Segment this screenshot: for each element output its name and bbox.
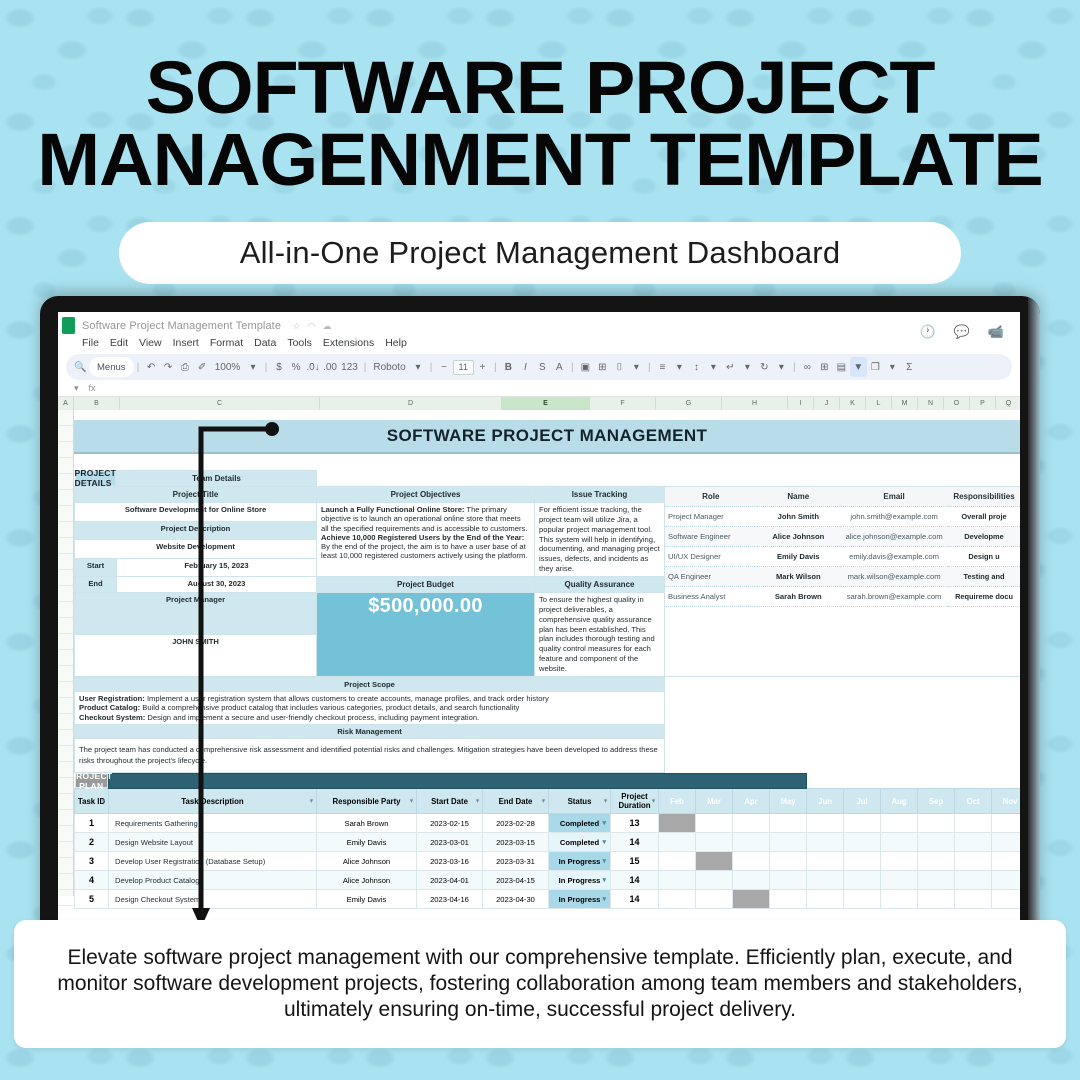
col-label: End Date — [499, 797, 533, 806]
chevron-down-icon[interactable]: ▾ — [602, 857, 606, 865]
gantt-empty-cell — [733, 852, 770, 871]
col-label: Project Duration — [618, 792, 650, 810]
start-date-cell: 2023-04-01 — [417, 871, 483, 890]
gantt-empty-cell — [844, 833, 881, 852]
row-header[interactable] — [58, 554, 73, 570]
column-header-l[interactable]: L — [866, 397, 892, 410]
team-email: mark.wilson@example.com — [840, 567, 948, 587]
row-header[interactable] — [58, 682, 73, 698]
comment-icon[interactable]: 💬 — [954, 324, 970, 340]
row-header[interactable] — [58, 762, 73, 778]
end-date-cell: 2023-04-15 — [483, 871, 549, 890]
italic-icon[interactable]: I — [517, 357, 534, 377]
row-header[interactable] — [58, 874, 73, 890]
text-wrap-icon[interactable]: ↵ — [722, 357, 739, 377]
gantt-empty-cell — [918, 852, 955, 871]
row-header[interactable] — [58, 698, 73, 714]
team-table: Role Name Email Responsibilities Project… — [665, 487, 1020, 607]
gantt-empty-cell — [807, 833, 844, 852]
scope-2-text: Build a comprehensive product catalog th… — [140, 703, 519, 712]
filter-icon[interactable]: ▾ — [476, 798, 479, 805]
team-responsibility: Developme — [948, 527, 1020, 547]
gantt-empty-cell — [918, 890, 955, 909]
sheets-logo-icon — [62, 317, 75, 334]
issue-tracking-header: Issue Tracking — [535, 487, 665, 503]
col-task-description[interactable]: Task Description▾ — [109, 789, 317, 814]
row-header[interactable] — [58, 410, 73, 426]
start-date-cell: 2023-02-15 — [417, 814, 483, 833]
menu-format[interactable]: Format — [210, 337, 243, 349]
gantt-empty-cell — [881, 852, 918, 871]
filter-icon[interactable]: ▾ — [604, 798, 607, 805]
print-icon[interactable]: ⎙ — [177, 357, 194, 377]
objective-1-label: Launch a Fully Functional Online Store: — [321, 505, 464, 514]
more-formats-icon[interactable]: 123 — [339, 357, 361, 377]
team-role: UI/UX Designer — [665, 547, 757, 567]
end-date-value: August 30, 2023 — [117, 577, 317, 593]
functions-chevron-down-icon[interactable]: ▾ — [884, 357, 901, 377]
gantt-bar-cell — [733, 890, 770, 909]
row-header[interactable] — [58, 634, 73, 650]
row-header[interactable] — [58, 730, 73, 746]
project-duration-cell: 14 — [611, 890, 659, 909]
task-description-cell: Design Checkout System — [109, 890, 317, 909]
merge-cells-icon[interactable]: ⌷ — [611, 357, 628, 377]
menu-tools[interactable]: Tools — [287, 337, 312, 349]
project-plan-table: PROJECT PLAN Task ID▾ Task Description▾ … — [74, 773, 1020, 910]
gantt-month-oct: Oct — [955, 789, 992, 814]
col-status[interactable]: Status▾ — [549, 789, 611, 814]
formula-bar: ▾ fx — [58, 380, 1020, 397]
row-header[interactable] — [58, 426, 73, 442]
gantt-empty-cell — [770, 871, 807, 890]
task-description-cell: Develop Product Catalog — [109, 871, 317, 890]
title-line-2: MANAGENMENT TEMPLATE — [0, 124, 1080, 196]
project-budget-value: $500,000.00 — [317, 593, 535, 677]
sigma-icon[interactable]: Σ — [901, 357, 918, 377]
menu-extensions[interactable]: Extensions — [323, 337, 374, 349]
column-header-o[interactable]: O — [944, 397, 970, 410]
status-cell[interactable]: In Progress▾ — [549, 871, 611, 890]
chevron-down-icon[interactable]: ▾ — [602, 895, 606, 903]
font-size-decrease-button[interactable]: − — [436, 357, 453, 377]
chevron-down-icon[interactable]: ▾ — [602, 819, 606, 827]
menu-insert[interactable]: Insert — [173, 337, 199, 349]
col-label: Responsible Party — [332, 797, 400, 806]
table-row: Role Name Email Responsibilities — [665, 487, 1020, 507]
start-date-cell: 2023-03-01 — [417, 833, 483, 852]
paint-format-icon[interactable]: ✐ — [194, 357, 211, 377]
team-col-email: Email — [840, 487, 948, 507]
start-date-cell: 2023-04-16 — [417, 890, 483, 909]
gantt-month-aug: Aug — [881, 789, 918, 814]
team-name: Mark Wilson — [757, 567, 841, 587]
scope-1-label: User Registration: — [79, 694, 145, 703]
gantt-month-apr: Apr — [733, 789, 770, 814]
row-header[interactable] — [58, 650, 73, 666]
gantt-month-may: May — [770, 789, 807, 814]
table-row: PROJECT PLAN — [75, 773, 1021, 789]
row-header[interactable] — [58, 890, 73, 906]
end-label: End — [75, 577, 117, 593]
end-date-cell: 2023-03-15 — [483, 833, 549, 852]
gantt-empty-cell — [992, 890, 1020, 909]
start-date-value: February 15, 2023 — [117, 558, 317, 577]
project-title-header: Project Title — [75, 487, 317, 503]
gantt-empty-cell — [955, 852, 992, 871]
col-responsible-party[interactable]: Responsible Party▾ — [317, 789, 417, 814]
gantt-empty-cell — [955, 871, 992, 890]
status-cell[interactable]: In Progress▾ — [549, 852, 611, 871]
star-icon[interactable]: ☆ — [293, 321, 301, 332]
project-description-value: Website Development — [75, 540, 317, 559]
responsible-party-cell: Alice Johnson — [317, 871, 417, 890]
functions-group-icon[interactable]: ❐ — [867, 357, 884, 377]
column-header-a[interactable]: A — [58, 397, 74, 410]
gantt-month-feb: Feb — [659, 789, 696, 814]
gantt-empty-cell — [659, 833, 696, 852]
column-header-e[interactable]: E — [502, 397, 590, 410]
spreadsheet-screen: Software Project Management Template ☆ ◠… — [58, 312, 1020, 924]
gantt-empty-cell — [770, 852, 807, 871]
valign-chevron-down-icon[interactable]: ▾ — [705, 357, 722, 377]
gantt-empty-cell — [733, 833, 770, 852]
menus-search-button[interactable]: Menus — [89, 357, 134, 377]
filter-icon[interactable]: ▾ — [542, 798, 545, 805]
gantt-empty-cell — [659, 871, 696, 890]
insert-link-icon[interactable]: ∞ — [799, 357, 816, 377]
project-scope-cell: User Registration: Implement a user regi… — [75, 691, 665, 724]
row-header[interactable] — [58, 858, 73, 874]
row-header[interactable] — [58, 538, 73, 554]
col-task-id[interactable]: Task ID▾ — [75, 789, 109, 814]
gantt-month-jul: Jul — [844, 789, 881, 814]
col-label: Status — [568, 797, 592, 806]
task-description-cell: Develop User Registration (Database Setu… — [109, 852, 317, 871]
insert-chart-icon[interactable]: ▤ — [833, 357, 850, 377]
scope-risk-table: Project Scope User Registration: Impleme… — [74, 677, 1020, 773]
gantt-bar-cell — [696, 833, 733, 852]
column-header-d[interactable]: D — [320, 397, 502, 410]
row-header[interactable] — [58, 474, 73, 490]
description-card: Elevate software project management with… — [14, 920, 1066, 1048]
font-size-increase-button[interactable]: + — [474, 357, 491, 377]
table-row: 2Design Website LayoutEmily Davis2023-03… — [75, 833, 1021, 852]
column-header-c[interactable]: C — [120, 397, 320, 410]
text-rotation-icon[interactable]: ↻ — [756, 357, 773, 377]
column-header-j[interactable]: J — [814, 397, 840, 410]
horizontal-align-icon[interactable]: ≡ — [654, 357, 671, 377]
chevron-down-icon[interactable]: ▾ — [602, 876, 606, 884]
top-right-icons: 🕐 💬 📹 — [919, 324, 1004, 340]
team-email: john.smith@example.com — [840, 507, 948, 527]
description-text: Elevate software project management with… — [14, 945, 1066, 1023]
status-label: Completed — [560, 819, 599, 828]
status-cell[interactable]: Completed▾ — [549, 833, 611, 852]
move-icon[interactable]: ◠ — [308, 321, 316, 332]
fx-icon: fx — [89, 383, 96, 393]
redo-icon[interactable]: ↷ — [160, 357, 177, 377]
wrap-chevron-down-icon[interactable]: ▾ — [739, 357, 756, 377]
insert-comment-icon[interactable]: ⊞ — [816, 357, 833, 377]
col-end-date[interactable]: End Date▾ — [483, 789, 549, 814]
gantt-empty-cell — [918, 871, 955, 890]
menu-data[interactable]: Data — [254, 337, 276, 349]
gantt-empty-cell — [992, 833, 1020, 852]
gantt-empty-cell — [659, 852, 696, 871]
project-title-value: Software Development for Online Store — [75, 503, 317, 522]
gantt-empty-cell — [770, 814, 807, 833]
strikethrough-icon[interactable]: S — [534, 357, 551, 377]
objective-2-text: By the end of the project, the aim is to… — [321, 542, 527, 560]
decrease-decimal-icon[interactable]: .0↓ — [305, 357, 322, 377]
table-row: 5Design Checkout SystemEmily Davis2023-0… — [75, 890, 1021, 909]
team-details-header: Team Details — [117, 471, 317, 487]
scope-3-label: Checkout System: — [79, 713, 145, 722]
row-header[interactable] — [58, 778, 73, 794]
column-header-f[interactable]: F — [590, 397, 656, 410]
team-email: alice.johnson@example.com — [840, 527, 948, 547]
namebox-chevron-down-icon[interactable]: ▾ — [74, 383, 79, 394]
team-responsibility: Design u — [948, 547, 1020, 567]
project-plan-body: 1Requirements GatheringSarah Brown2023-0… — [75, 814, 1021, 909]
gantt-empty-cell — [918, 814, 955, 833]
table-row: QA EngineerMark Wilsonmark.wilson@exampl… — [665, 567, 1020, 587]
column-header-p[interactable]: P — [970, 397, 996, 410]
spacer-row — [74, 454, 1020, 470]
team-details-cell: Role Name Email Responsibilities Project… — [665, 487, 1021, 677]
menu-edit[interactable]: Edit — [110, 337, 128, 349]
filter-icon[interactable]: ▾ — [410, 798, 413, 805]
row-header[interactable] — [58, 826, 73, 842]
undo-icon[interactable]: ↶ — [143, 357, 160, 377]
gantt-empty-cell — [733, 814, 770, 833]
table-row: 1Requirements GatheringSarah Brown2023-0… — [75, 814, 1021, 833]
gantt-empty-cell — [770, 833, 807, 852]
column-header-n[interactable]: N — [918, 397, 944, 410]
search-icon[interactable]: 🔍 — [72, 357, 89, 377]
filter-icon[interactable]: ▾ — [102, 798, 105, 805]
task-description-cell: Design Website Layout — [109, 833, 317, 852]
column-headers: ABCDEFGHIJKLMNOPQRSTUVWXYZAAAB — [58, 397, 1020, 410]
end-date-cell: 2023-04-30 — [483, 890, 549, 909]
project-duration-cell: 13 — [611, 814, 659, 833]
gantt-month-nov: Nov — [992, 789, 1020, 814]
task-description-cell: Requirements Gathering — [109, 814, 317, 833]
merge-chevron-down-icon[interactable]: ▾ — [628, 357, 645, 377]
responsible-party-cell: Alice Johnson — [317, 852, 417, 871]
font-family-select[interactable]: Roboto — [370, 357, 410, 377]
row-header[interactable] — [58, 666, 73, 682]
column-header-k[interactable]: K — [840, 397, 866, 410]
vertical-align-icon[interactable]: ↕ — [688, 357, 705, 377]
column-header-h[interactable]: H — [722, 397, 788, 410]
row-header[interactable] — [58, 522, 73, 538]
team-email: emily.davis@example.com — [840, 547, 948, 567]
text-color-icon[interactable]: A — [551, 357, 568, 377]
fill-color-icon[interactable]: ▣ — [577, 357, 594, 377]
row-header[interactable] — [58, 714, 73, 730]
row-header[interactable] — [58, 618, 73, 634]
gantt-month-mar: Mar — [696, 789, 733, 814]
status-label: In Progress — [559, 895, 601, 904]
toolbar: 🔍 Menus | ↶ ↷ ⎙ ✐ 100% ▾ | $ % .0↓ .00 1… — [66, 354, 1012, 380]
risk-management-header: Risk Management — [75, 725, 665, 739]
cloud-icon[interactable]: ☁ — [322, 321, 331, 332]
table-row: Project ManagerJohn Smithjohn.smith@exam… — [665, 507, 1020, 527]
row-header[interactable] — [58, 746, 73, 762]
gantt-empty-cell — [807, 852, 844, 871]
gantt-empty-cell — [955, 814, 992, 833]
project-duration-cell: 14 — [611, 833, 659, 852]
page-title: SOFTWARE PROJECT MANAGENMENT TEMPLATE — [0, 0, 1080, 196]
row-header[interactable] — [58, 506, 73, 522]
gantt-empty-cell — [881, 871, 918, 890]
status-cell[interactable]: In Progress▾ — [549, 890, 611, 909]
project-duration-cell: 15 — [611, 852, 659, 871]
table-row: 3Develop User Registration (Database Set… — [75, 852, 1021, 871]
team-role: Software Engineer — [665, 527, 757, 547]
col-project-duration[interactable]: Project Duration▾ — [611, 789, 659, 814]
toolbar-divider-4: | — [427, 357, 436, 377]
team-name: Sarah Brown — [757, 587, 841, 607]
project-plan-header: PROJECT PLAN — [75, 773, 109, 788]
row-header[interactable] — [58, 586, 73, 602]
quality-assurance-text: To ensure the highest quality in project… — [535, 593, 665, 677]
gantt-empty-cell — [992, 871, 1020, 890]
menu-view[interactable]: View — [139, 337, 162, 349]
gantt-empty-cell — [807, 890, 844, 909]
column-header-m[interactable]: M — [892, 397, 918, 410]
sheet-grid: SOFTWARE PROJECT MANAGEMENT PROJECT DETA… — [58, 410, 1020, 909]
menu-help[interactable]: Help — [385, 337, 407, 349]
project-details-header: PROJECT DETAILS — [75, 471, 117, 486]
table-row: User Registration: Implement a user regi… — [75, 691, 1021, 724]
responsible-party-cell: Emily Davis — [317, 833, 417, 852]
filter-icon[interactable]: ▾ — [652, 798, 655, 805]
row-header[interactable] — [58, 810, 73, 826]
toolbar-divider-5: | — [491, 357, 500, 377]
row-header[interactable] — [58, 794, 73, 810]
table-row: Project Scope — [75, 677, 1021, 691]
gantt-bar-cell — [733, 871, 770, 890]
project-description-header: Project Description — [75, 521, 317, 540]
gantt-empty-cell — [955, 833, 992, 852]
zoom-select[interactable]: 100% — [211, 357, 245, 377]
history-icon[interactable]: 🕐 — [919, 324, 935, 340]
scope-1-text: Implement a user registration system tha… — [145, 694, 549, 703]
project-budget-header: Project Budget — [317, 577, 535, 593]
font-chevron-down-icon[interactable]: ▾ — [410, 357, 427, 377]
app-titlebar: Software Project Management Template ☆ ◠… — [58, 312, 1020, 336]
gantt-empty-cell — [844, 890, 881, 909]
table-row: The project team has conducted a compreh… — [75, 739, 1021, 773]
column-header-q[interactable]: Q — [996, 397, 1020, 410]
font-size-input[interactable]: 11 — [453, 360, 474, 375]
toolbar-divider-7: | — [645, 357, 654, 377]
rotation-chevron-down-icon[interactable]: ▾ — [773, 357, 790, 377]
row-header[interactable] — [58, 442, 73, 458]
column-header-g[interactable]: G — [656, 397, 722, 410]
toolbar-divider-6: | — [568, 357, 577, 377]
table-row: PROJECT DETAILS Team Details — [75, 471, 1021, 487]
project-manager-value: JOHN SMITH — [75, 634, 317, 676]
gantt-empty-cell — [696, 814, 733, 833]
team-role: Business Analyst — [665, 587, 757, 607]
project-scope-header: Project Scope — [75, 677, 665, 691]
zoom-chevron-down-icon[interactable]: ▾ — [245, 357, 262, 377]
column-header-b[interactable]: B — [74, 397, 120, 410]
halign-chevron-down-icon[interactable]: ▾ — [671, 357, 688, 377]
quality-assurance-header: Quality Assurance — [535, 577, 665, 593]
col-start-date[interactable]: Start Date▾ — [417, 789, 483, 814]
status-cell[interactable]: Completed▾ — [549, 814, 611, 833]
increase-decimal-icon[interactable]: .00 — [322, 357, 339, 377]
table-row: UI/UX DesignerEmily Davisemily.davis@exa… — [665, 547, 1020, 567]
team-responsibility: Overall proje — [948, 507, 1020, 527]
row-header[interactable] — [58, 602, 73, 618]
start-label: Start — [75, 558, 117, 577]
team-col-role: Role — [665, 487, 757, 507]
task-id-cell: 5 — [75, 890, 109, 909]
subtitle-text: All-in-One Project Management Dashboard — [240, 235, 841, 271]
gantt-empty-cell — [881, 814, 918, 833]
gantt-month-sep: Sep — [918, 789, 955, 814]
gantt-empty-cell — [918, 833, 955, 852]
table-row: Task ID▾ Task Description▾ Responsible P… — [75, 789, 1021, 814]
title-line-1: SOFTWARE PROJECT — [146, 46, 935, 129]
gantt-empty-cell — [955, 890, 992, 909]
row-header[interactable] — [58, 490, 73, 506]
table-row: Software EngineerAlice Johnsonalice.john… — [665, 527, 1020, 547]
filter-icon[interactable]: ▼ — [850, 357, 867, 377]
project-objectives-header: Project Objectives — [317, 487, 535, 503]
team-email: sarah.brown@example.com — [840, 587, 948, 607]
row-header[interactable] — [58, 842, 73, 858]
gantt-empty-cell — [696, 890, 733, 909]
borders-icon[interactable]: ⊞ — [594, 357, 611, 377]
table-row: Risk Management — [75, 725, 1021, 739]
currency-format-icon[interactable]: $ — [271, 357, 288, 377]
gantt-empty-cell — [770, 890, 807, 909]
project-duration-cell: 14 — [611, 871, 659, 890]
document-name[interactable]: Software Project Management Template — [82, 320, 281, 332]
project-details-table: PROJECT DETAILS Team Details Project Tit… — [74, 470, 1020, 677]
risk-management-text: The project team has conducted a compreh… — [75, 739, 665, 773]
filter-icon[interactable]: ▾ — [310, 798, 313, 805]
gantt-empty-cell — [807, 871, 844, 890]
gantt-empty-cell — [844, 814, 881, 833]
task-id-cell: 4 — [75, 871, 109, 890]
gantt-empty-cell — [696, 871, 733, 890]
row-header[interactable] — [58, 570, 73, 586]
row-headers — [58, 410, 74, 896]
objectives-cell: Launch a Fully Functional Online Store: … — [317, 503, 535, 577]
percent-format-icon[interactable]: % — [288, 357, 305, 377]
team-role: Project Manager — [665, 507, 757, 527]
meet-icon[interactable]: 📹 — [988, 324, 1004, 340]
end-date-cell: 2023-02-28 — [483, 814, 549, 833]
column-header-i[interactable]: I — [788, 397, 814, 410]
header: SOFTWARE PROJECT MANAGENMENT TEMPLATE Al… — [0, 0, 1080, 284]
gantt-bar-cell — [696, 852, 733, 871]
menu-file[interactable]: File — [82, 337, 99, 349]
row-header[interactable] — [58, 458, 73, 474]
chevron-down-icon[interactable]: ▾ — [602, 838, 606, 846]
gantt-bar-cell — [659, 814, 696, 833]
bold-icon[interactable]: B — [500, 357, 517, 377]
team-name: John Smith — [757, 507, 841, 527]
